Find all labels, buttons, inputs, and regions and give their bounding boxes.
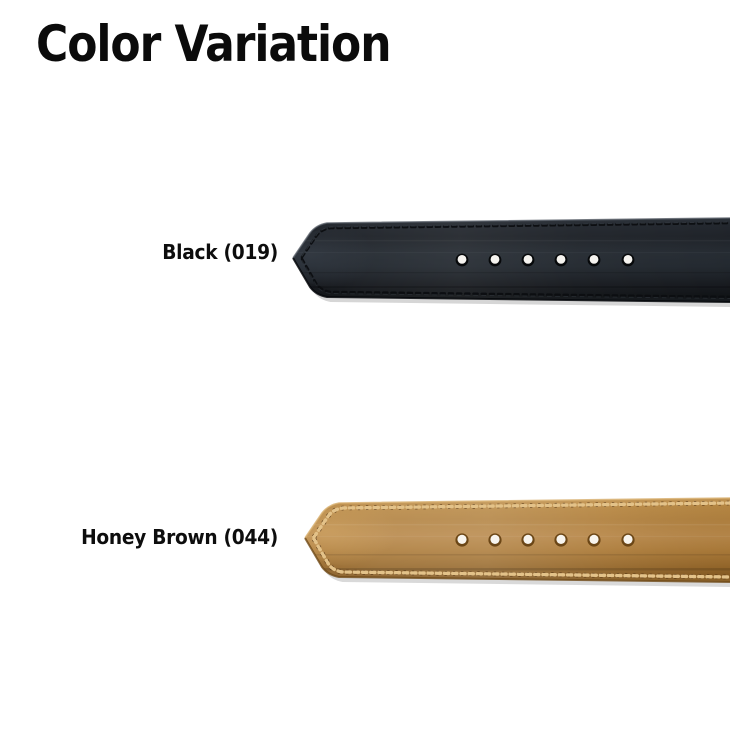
strap-hole bbox=[622, 254, 635, 267]
strap-hole bbox=[521, 533, 534, 546]
strap-hole bbox=[488, 533, 501, 546]
swatch-label-black: Black (019) bbox=[19, 240, 278, 264]
strap-hole bbox=[522, 254, 535, 267]
color-variation-row-honey-brown: Honey Brown (044) bbox=[0, 480, 730, 600]
strap-hole bbox=[489, 254, 502, 267]
strap-hole bbox=[621, 533, 634, 546]
strap-hole bbox=[455, 533, 468, 546]
color-variation-page: Color Variation Black (019) bbox=[0, 0, 730, 730]
strap-hole bbox=[554, 533, 567, 546]
strap-image-black bbox=[280, 200, 730, 320]
swatch-label-honey-brown: Honey Brown (044) bbox=[19, 525, 278, 549]
strap-hole bbox=[588, 254, 601, 267]
strap-hole bbox=[456, 254, 469, 267]
strap-hole bbox=[555, 254, 568, 267]
strap-hole bbox=[587, 533, 600, 546]
color-variation-row-black: Black (019) bbox=[0, 200, 730, 320]
page-title: Color Variation bbox=[36, 14, 390, 74]
strap-image-honey-brown bbox=[280, 480, 730, 600]
